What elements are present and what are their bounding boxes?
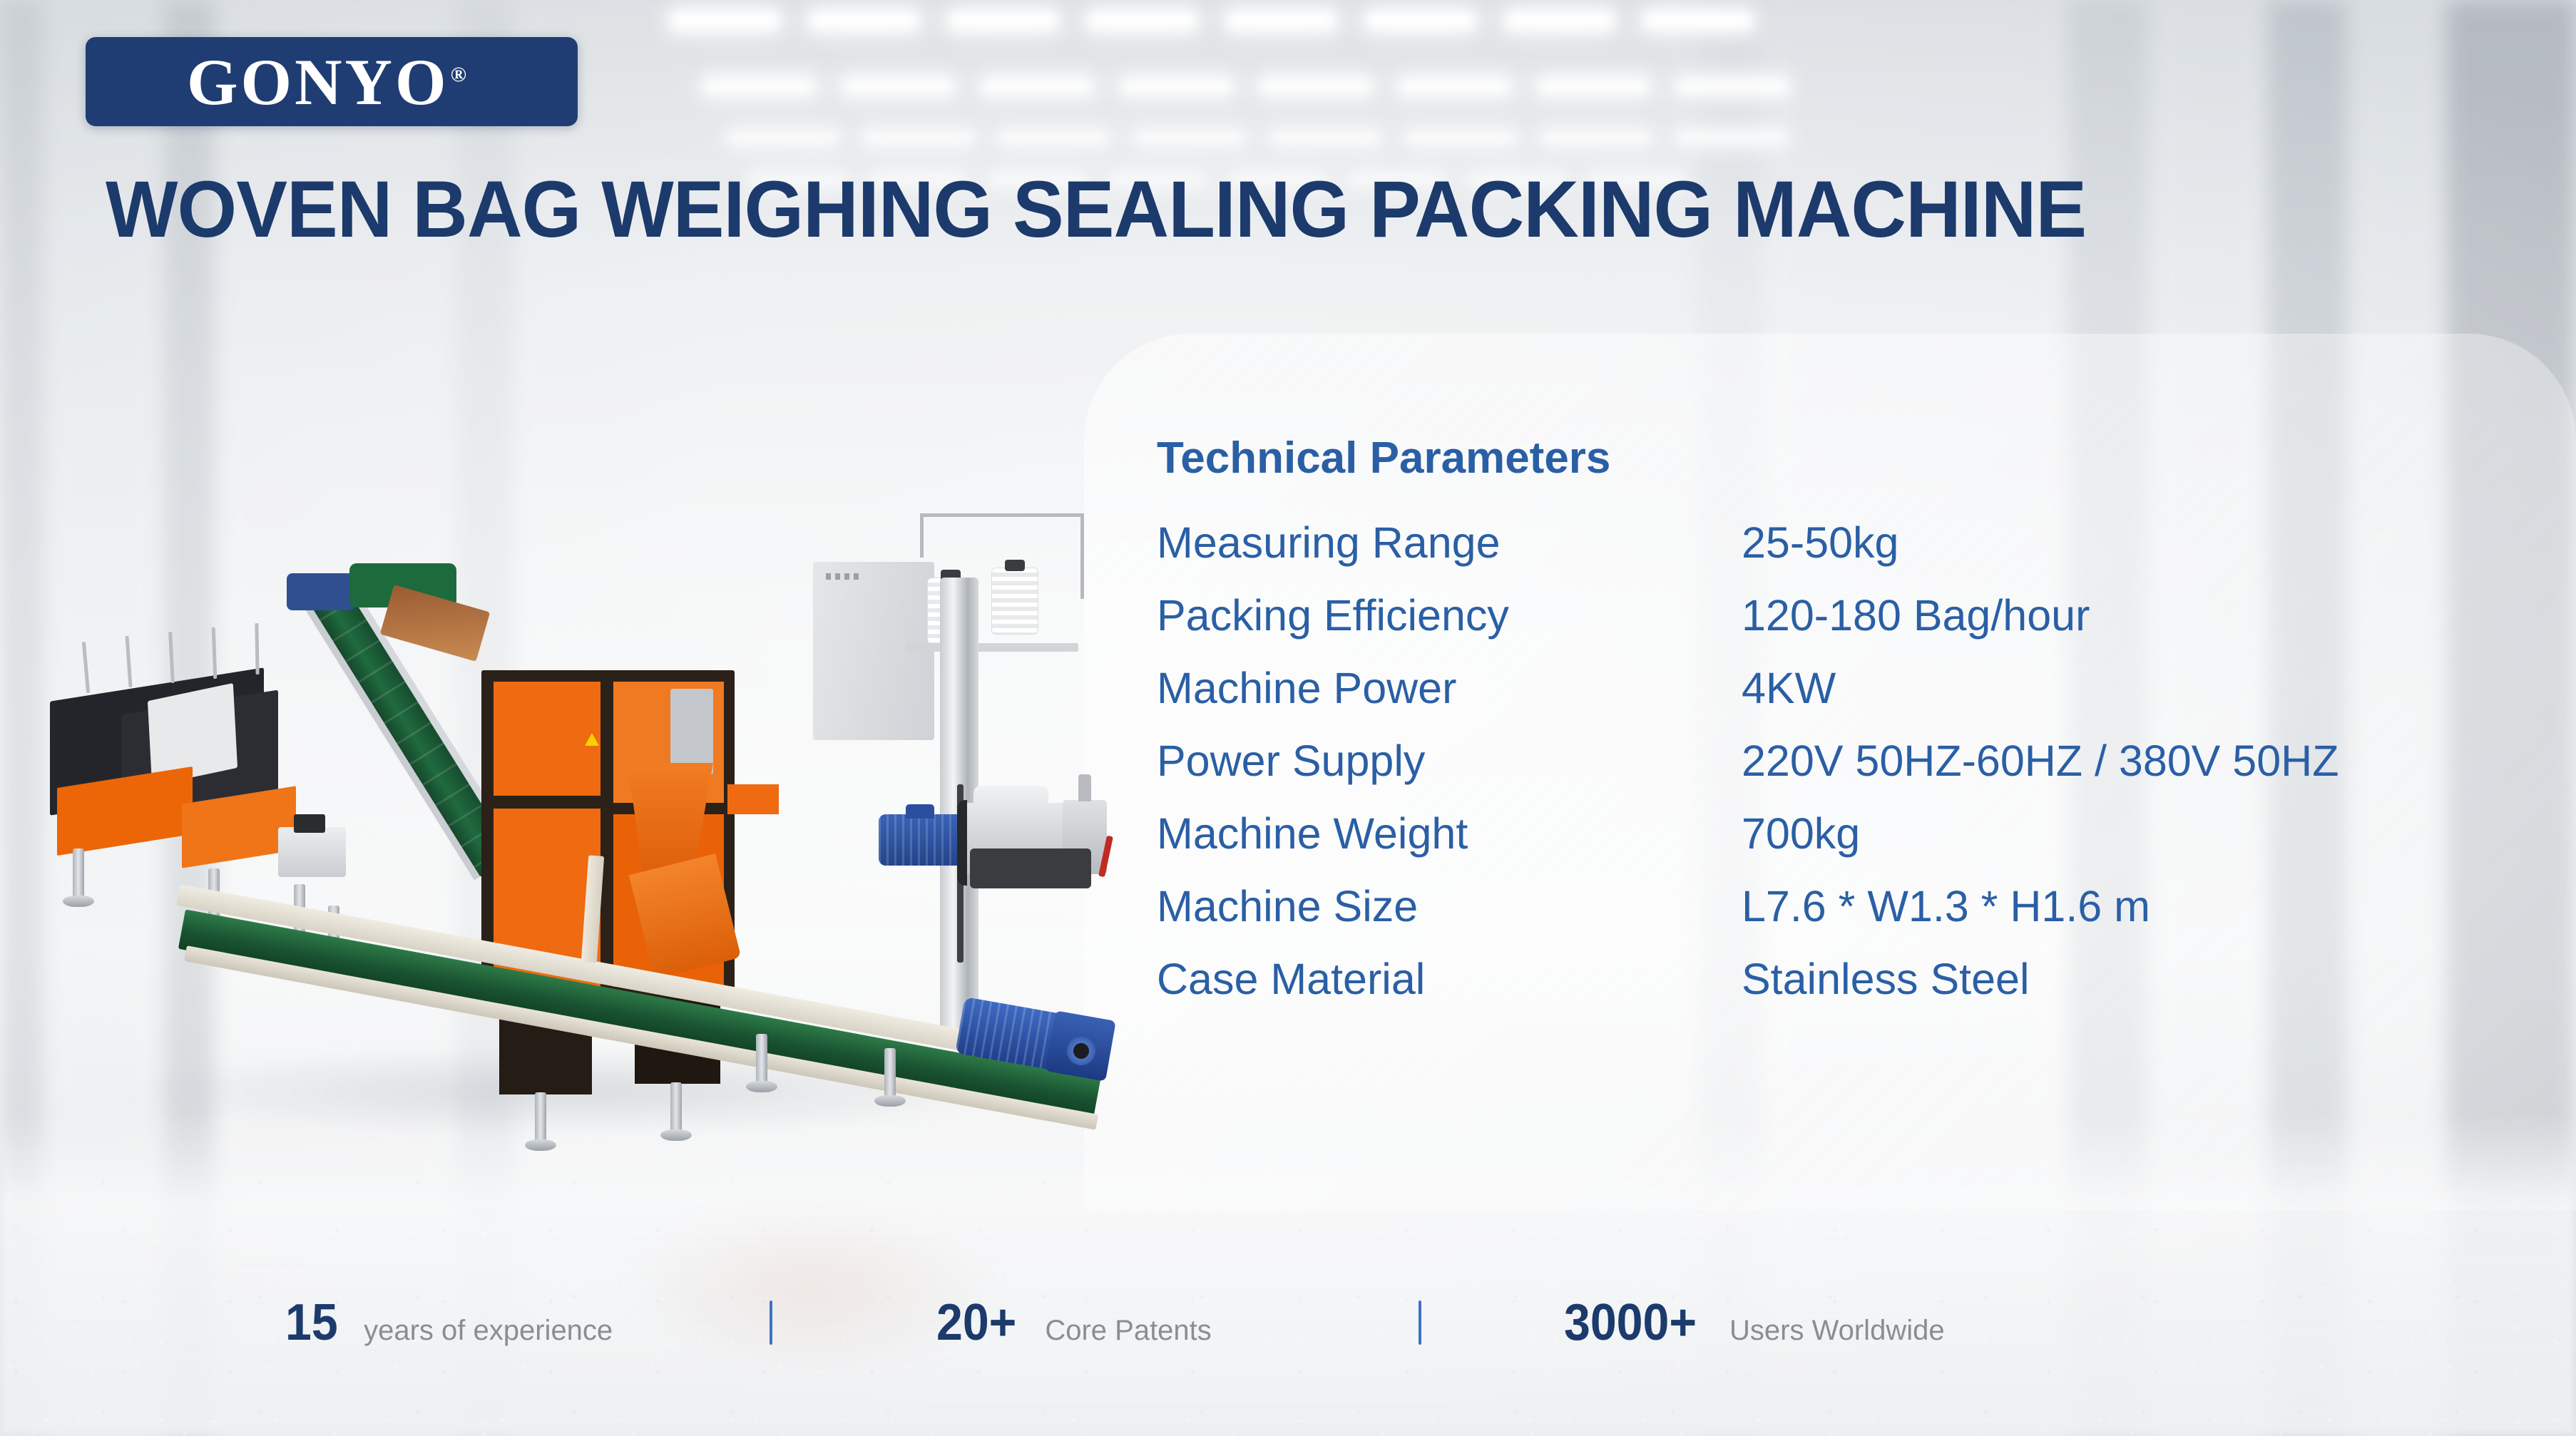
cable-hose xyxy=(957,800,981,886)
stat-years-of-experience: 15 years of experience xyxy=(285,1297,613,1348)
spec-label: Machine Weight xyxy=(1157,806,1742,861)
thread-stand-arm xyxy=(920,513,1084,517)
bag-holder-pin xyxy=(125,636,132,687)
cabinet-panel xyxy=(494,682,600,796)
spec-label: Power Supply xyxy=(1157,733,1742,789)
bag-holder-pin xyxy=(82,642,90,693)
side-outlet xyxy=(727,784,779,814)
stat-label: years of experience xyxy=(364,1316,613,1345)
spec-row: Machine Power 4KW xyxy=(1157,660,2555,716)
spec-value: L7.6 * W1.3 * H1.6 m xyxy=(1742,878,2150,934)
spec-row: Machine Weight 700kg xyxy=(1157,806,2555,861)
spec-value: Stainless Steel xyxy=(1742,951,2030,1007)
spec-label: Machine Size xyxy=(1157,878,1742,934)
spec-value: 120-180 Bag/hour xyxy=(1742,588,2090,643)
product-banner: GONYO® WOVEN BAG WEIGHING SEALING PACKIN… xyxy=(0,0,2576,1436)
spec-value: 25-50kg xyxy=(1742,515,1898,570)
product-image xyxy=(43,549,1127,1141)
leveling-foot xyxy=(535,1092,546,1144)
stat-label: Core Patents xyxy=(1045,1316,1211,1345)
spec-label: Packing Efficiency xyxy=(1157,588,1742,643)
stat-separator xyxy=(1419,1301,1421,1345)
motor-terminal-box xyxy=(906,804,934,819)
leveling-foot xyxy=(670,1082,682,1134)
brand-logo-text: GONYO® xyxy=(187,49,476,115)
technical-parameters: Technical Parameters Measuring Range 25-… xyxy=(1157,436,2555,1025)
sewing-head-base xyxy=(970,848,1091,888)
spec-row: Packing Efficiency 120-180 Bag/hour xyxy=(1157,588,2555,643)
stat-users-worldwide: 3000+ Users Worldwide xyxy=(1564,1297,1945,1348)
spec-label: Machine Power xyxy=(1157,660,1742,716)
leveling-foot xyxy=(73,848,84,900)
stat-number: 20+ xyxy=(936,1297,1016,1348)
stacked-woven-bags xyxy=(148,683,237,786)
spec-label: Measuring Range xyxy=(1157,515,1742,570)
stat-separator xyxy=(770,1301,772,1345)
thread-stand-post xyxy=(920,513,924,558)
thread-stand-plate xyxy=(907,643,1078,652)
stats-bar: 15 years of experience 20+ Core Patents … xyxy=(0,1283,2576,1362)
registered-trademark-icon: ® xyxy=(451,63,469,86)
bag-holder-pin xyxy=(212,627,218,679)
bag-holder-pin xyxy=(168,632,175,683)
leveling-foot xyxy=(884,1048,896,1099)
leveling-foot xyxy=(756,1034,767,1085)
spec-value: 220V 50HZ-60HZ / 380V 50HZ xyxy=(1742,733,2339,789)
spec-title: Technical Parameters xyxy=(1157,436,2555,481)
spec-row: Machine Size L7.6 * W1.3 * H1.6 m xyxy=(1157,878,2555,934)
spec-value: 700kg xyxy=(1742,806,1860,861)
weigh-hopper-gate xyxy=(670,689,713,774)
oiler-cup xyxy=(1078,774,1091,801)
spec-row: Case Material Stainless Steel xyxy=(1157,951,2555,1007)
stat-core-patents: 20+ Core Patents xyxy=(936,1297,1212,1348)
brand-logo[interactable]: GONYO® xyxy=(86,37,578,126)
discharge-chute xyxy=(380,585,490,662)
thread-stand-post xyxy=(1080,513,1084,599)
control-cabinet-vents xyxy=(826,573,860,580)
spec-row: Measuring Range 25-50kg xyxy=(1157,515,2555,570)
motor-cooling-fins xyxy=(879,814,963,866)
spec-label: Case Material xyxy=(1157,951,1742,1007)
spec-row: Power Supply 220V 50HZ-60HZ / 380V 50HZ xyxy=(1157,733,2555,789)
spec-value: 4KW xyxy=(1742,660,1836,716)
conveyor-drive-motor xyxy=(287,573,355,610)
stat-number: 3000+ xyxy=(1564,1297,1697,1348)
page-title: WOVEN BAG WEIGHING SEALING PACKING MACHI… xyxy=(106,170,2086,250)
thread-spool xyxy=(991,568,1038,635)
stat-label: Users Worldwide xyxy=(1729,1316,1945,1345)
stat-number: 15 xyxy=(285,1297,338,1348)
